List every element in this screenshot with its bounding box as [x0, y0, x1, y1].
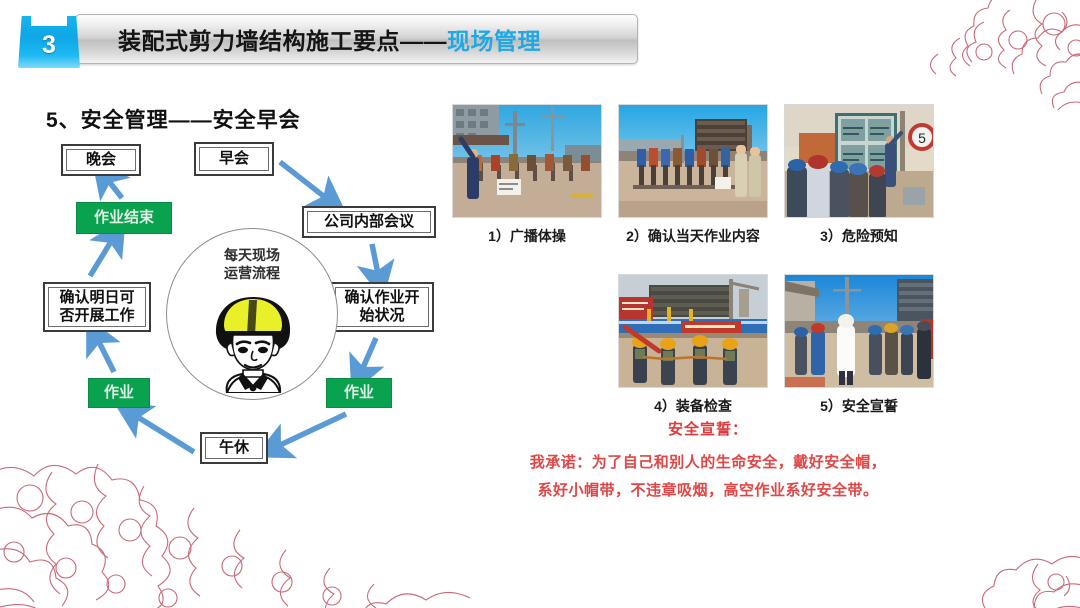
safety-pledge-line-1: 我承诺：为了自己和别人的生命安全，戴好安全帽， [452, 449, 964, 477]
photo-item-2[interactable]: 2）确认当天作业内容 [618, 104, 768, 246]
photo-caption-2: 2）确认当天作业内容 [618, 226, 768, 246]
flow-node-confirm-tomorrow-work[interactable]: 确认明日可 否开展工作 [43, 282, 151, 332]
flow-center-circle: 每天现场 运营流程 [166, 228, 338, 400]
photo-caption-4: 4）装备检查 [618, 396, 768, 416]
photo-thumbnail-radio-calisthenics[interactable] [452, 104, 602, 218]
safety-pledge-block: 安全宣誓： 我承诺：为了自己和别人的生命安全，戴好安全帽， 系好小帽带，不违章吸… [452, 418, 964, 505]
flow-node-work-right[interactable]: 作业 [326, 378, 392, 408]
arrow-confirmstart-to-work-right [362, 338, 376, 370]
photo-caption-3: 3）危险预知 [784, 226, 934, 246]
arrow-workend-to-evening [108, 180, 122, 198]
arrow-work-right-to-lunch [278, 414, 346, 446]
flow-center-label: 每天现场 运营流程 [167, 247, 337, 282]
photo-item-3[interactable]: 5 [784, 104, 934, 246]
construction-worker-illustration-icon [197, 287, 309, 393]
flow-node-work-left[interactable]: 作业 [88, 378, 150, 408]
arrow-morning-to-company [280, 162, 326, 198]
svg-text:5: 5 [918, 130, 926, 146]
slide-title-banner: 3 装配式剪力墙结构施工要点——现场管理 [18, 14, 638, 64]
page-title: 装配式剪力墙结构施工要点——现场管理 [118, 14, 541, 64]
flow-node-evening-meeting[interactable]: 晚会 [61, 144, 141, 176]
slide-number: 3 [18, 16, 80, 68]
photo-item-5[interactable]: 5）安全宣誓 [784, 274, 934, 416]
arrow-lunch-to-work-left [136, 416, 194, 452]
page-title-main: 装配式剪力墙结构施工要点—— [118, 22, 447, 56]
page-title-highlight: 现场管理 [447, 22, 541, 56]
flow-node-confirm-work-start[interactable]: 确认作业开 始状况 [330, 282, 434, 332]
cloud-ornament-top-right-icon [788, 0, 1080, 114]
arrow-confirmtomorrow-to-workend [90, 240, 112, 276]
photo-caption-5: 5）安全宣誓 [784, 396, 934, 416]
cloud-ornament-bottom-right-icon [870, 522, 1080, 608]
arrow-company-to-confirmstart [372, 244, 378, 274]
flow-node-work-end[interactable]: 作业结束 [76, 202, 172, 234]
photo-item-1[interactable]: 1）广播体操 [452, 104, 602, 246]
photo-thumbnail-hazard-prediction[interactable]: 5 [784, 104, 934, 218]
section-heading: 5、安全管理——安全早会 [46, 104, 301, 134]
safety-pledge-line-2: 系好小帽带，不违章吸烟，高空作业系好安全带。 [452, 477, 964, 505]
flow-node-morning-meeting[interactable]: 早会 [194, 142, 274, 176]
photo-item-4[interactable]: 4）装备检查 [618, 274, 768, 416]
slide-number-badge: 3 [18, 16, 80, 68]
photo-thumbnail-safety-oath[interactable] [784, 274, 934, 388]
photo-caption-1: 1）广播体操 [452, 226, 602, 246]
arrow-work-left-to-confirmtomorrow [98, 340, 114, 372]
slide-root: 3 装配式剪力墙结构施工要点——现场管理 5、安全管理——安全早会 [0, 0, 1080, 608]
safety-pledge-title: 安全宣誓： [452, 418, 964, 439]
flow-node-company-internal-meeting[interactable]: 公司内部会议 [302, 206, 436, 238]
daily-site-flow-diagram: 晚会 早会 公司内部会议 确认作业开 始状况 作业 午休 作业 确认明日可 否开… [26, 140, 446, 480]
flow-node-lunch-break[interactable]: 午休 [200, 432, 268, 464]
photo-thumbnail-equipment-inspection[interactable] [618, 274, 768, 388]
photo-thumbnail-confirm-daily-tasks[interactable] [618, 104, 768, 218]
